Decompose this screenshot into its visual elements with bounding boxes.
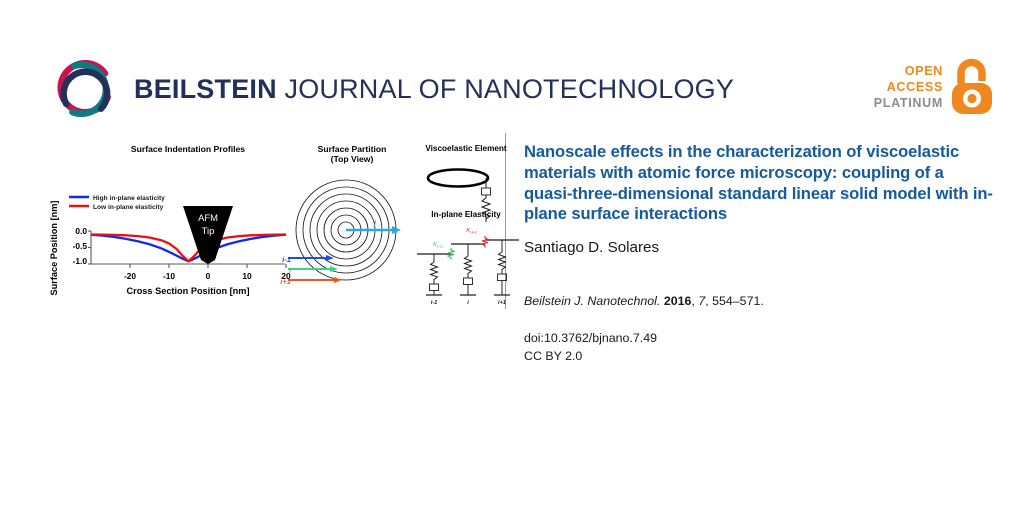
afm-tip-label-line2: Tip — [202, 225, 215, 236]
viscoelastic-hanging-element — [482, 178, 491, 222]
panel-title-viscoelastic-element: Viscoelastic Element — [417, 144, 515, 154]
journal-header: BEILSTEIN JOURNAL OF NANOTECHNOLOGY OPEN… — [0, 0, 1024, 130]
article-title[interactable]: Nanoscale effects in the characterizatio… — [524, 142, 994, 225]
citation-journal: Beilstein J. Nanotechnol. — [524, 294, 660, 308]
xtick-1: -10 — [163, 271, 175, 281]
inplane-elements-group: Ki-1,i Ki,i+1 i-1 i i+1 — [417, 228, 519, 306]
panel-title-surface-indentation: Surface Indentation Profiles — [83, 144, 293, 154]
partition-label-i-plus-1: i+1 — [280, 277, 291, 286]
partition-arrow-i — [288, 266, 338, 272]
citation-year: 2016 — [664, 294, 692, 308]
open-access-label: OPEN ACCESS PLATINUM — [874, 63, 943, 111]
partition-arrow-labels: i-1 i i+1 — [253, 246, 293, 294]
partition-label-i: i — [289, 266, 292, 275]
surface-partition-diagram: j — [288, 164, 403, 299]
open-access-badge[interactable]: OPEN ACCESS PLATINUM — [874, 58, 994, 116]
article-doi[interactable]: doi:10.3762/bjnano.7.49 — [524, 330, 994, 348]
wordmark-journal-of-nanotechnology: JOURNAL OF NANOTECHNOLOGY — [277, 74, 734, 104]
coupling-spring-green — [448, 248, 454, 260]
inplane-element-i — [460, 244, 476, 295]
partition-label-i-minus-1: i-1 — [282, 255, 291, 264]
spring-label-red: Ki,i+1 — [466, 228, 477, 234]
element-index-i-minus-1: i-1 — [431, 300, 438, 306]
open-access-line-open: OPEN — [874, 63, 943, 79]
chart-ylabel: Surface Position [nm] — [49, 201, 59, 296]
element-index-i-plus-1: i+1 — [498, 300, 506, 306]
inplane-element-i-plus-1 — [494, 240, 510, 295]
journal-wordmark: BEILSTEIN JOURNAL OF NANOTECHNOLOGY — [134, 76, 734, 103]
xtick-3: 10 — [242, 271, 252, 281]
viscoelastic-ring — [428, 170, 488, 187]
xtick-0: -20 — [124, 271, 136, 281]
panel-title-surface-partition: Surface Partition (Top View) — [293, 144, 411, 165]
xtick-2: 0 — [206, 271, 211, 281]
partition-arrow-i-plus-1 — [288, 277, 342, 283]
chart-xlabel: Cross Section Position [nm] — [126, 286, 249, 296]
article-metadata: Nanoscale effects in the characterizatio… — [524, 142, 994, 366]
partition-radial-arrow — [346, 226, 401, 234]
coupling-spring-red — [482, 236, 488, 248]
open-padlock-icon — [950, 58, 994, 116]
spring-label-green: Ki-1,i — [433, 242, 443, 248]
ytick-1: -0.5 — [73, 241, 88, 251]
inplane-element-i-minus-1 — [426, 254, 442, 295]
afm-tip-label-line1: AFM — [198, 212, 218, 223]
beilstein-spiral-logo-icon — [52, 55, 120, 123]
element-index-i: i — [467, 300, 469, 306]
graphical-abstract-figure: Surface Indentation Profiles Surface Par… — [45, 138, 500, 303]
legend-label-low: Low in-plane elasticity — [93, 204, 164, 211]
ytick-2: -1.0 — [73, 256, 88, 266]
article-authors[interactable]: Santiago D. Solares — [524, 239, 994, 257]
open-access-line-access: ACCESS — [874, 79, 943, 95]
article-abstract-page: BEILSTEIN JOURNAL OF NANOTECHNOLOGY OPEN… — [0, 0, 1024, 512]
partition-center-label: j — [373, 218, 377, 227]
article-citation: Beilstein J. Nanotechnol. 2016, 7, 554–5… — [524, 293, 994, 309]
viscoelastic-element-diagram: Ki-1,i Ki,i+1 i-1 i i+1 — [403, 156, 533, 306]
journal-logo[interactable]: BEILSTEIN JOURNAL OF NANOTECHNOLOGY — [52, 55, 734, 123]
legend-label-high: High in-plane elasticity — [93, 195, 165, 202]
ytick-0: 0.0 — [75, 226, 87, 236]
open-access-line-platinum: PLATINUM — [874, 95, 943, 111]
wordmark-beilstein: BEILSTEIN — [134, 74, 277, 104]
partition-arrow-i-minus-1 — [288, 255, 334, 261]
partition-title-line1: Surface Partition — [293, 144, 411, 154]
article-license[interactable]: CC BY 2.0 — [524, 348, 994, 366]
citation-pages: 554–571. — [712, 294, 764, 308]
